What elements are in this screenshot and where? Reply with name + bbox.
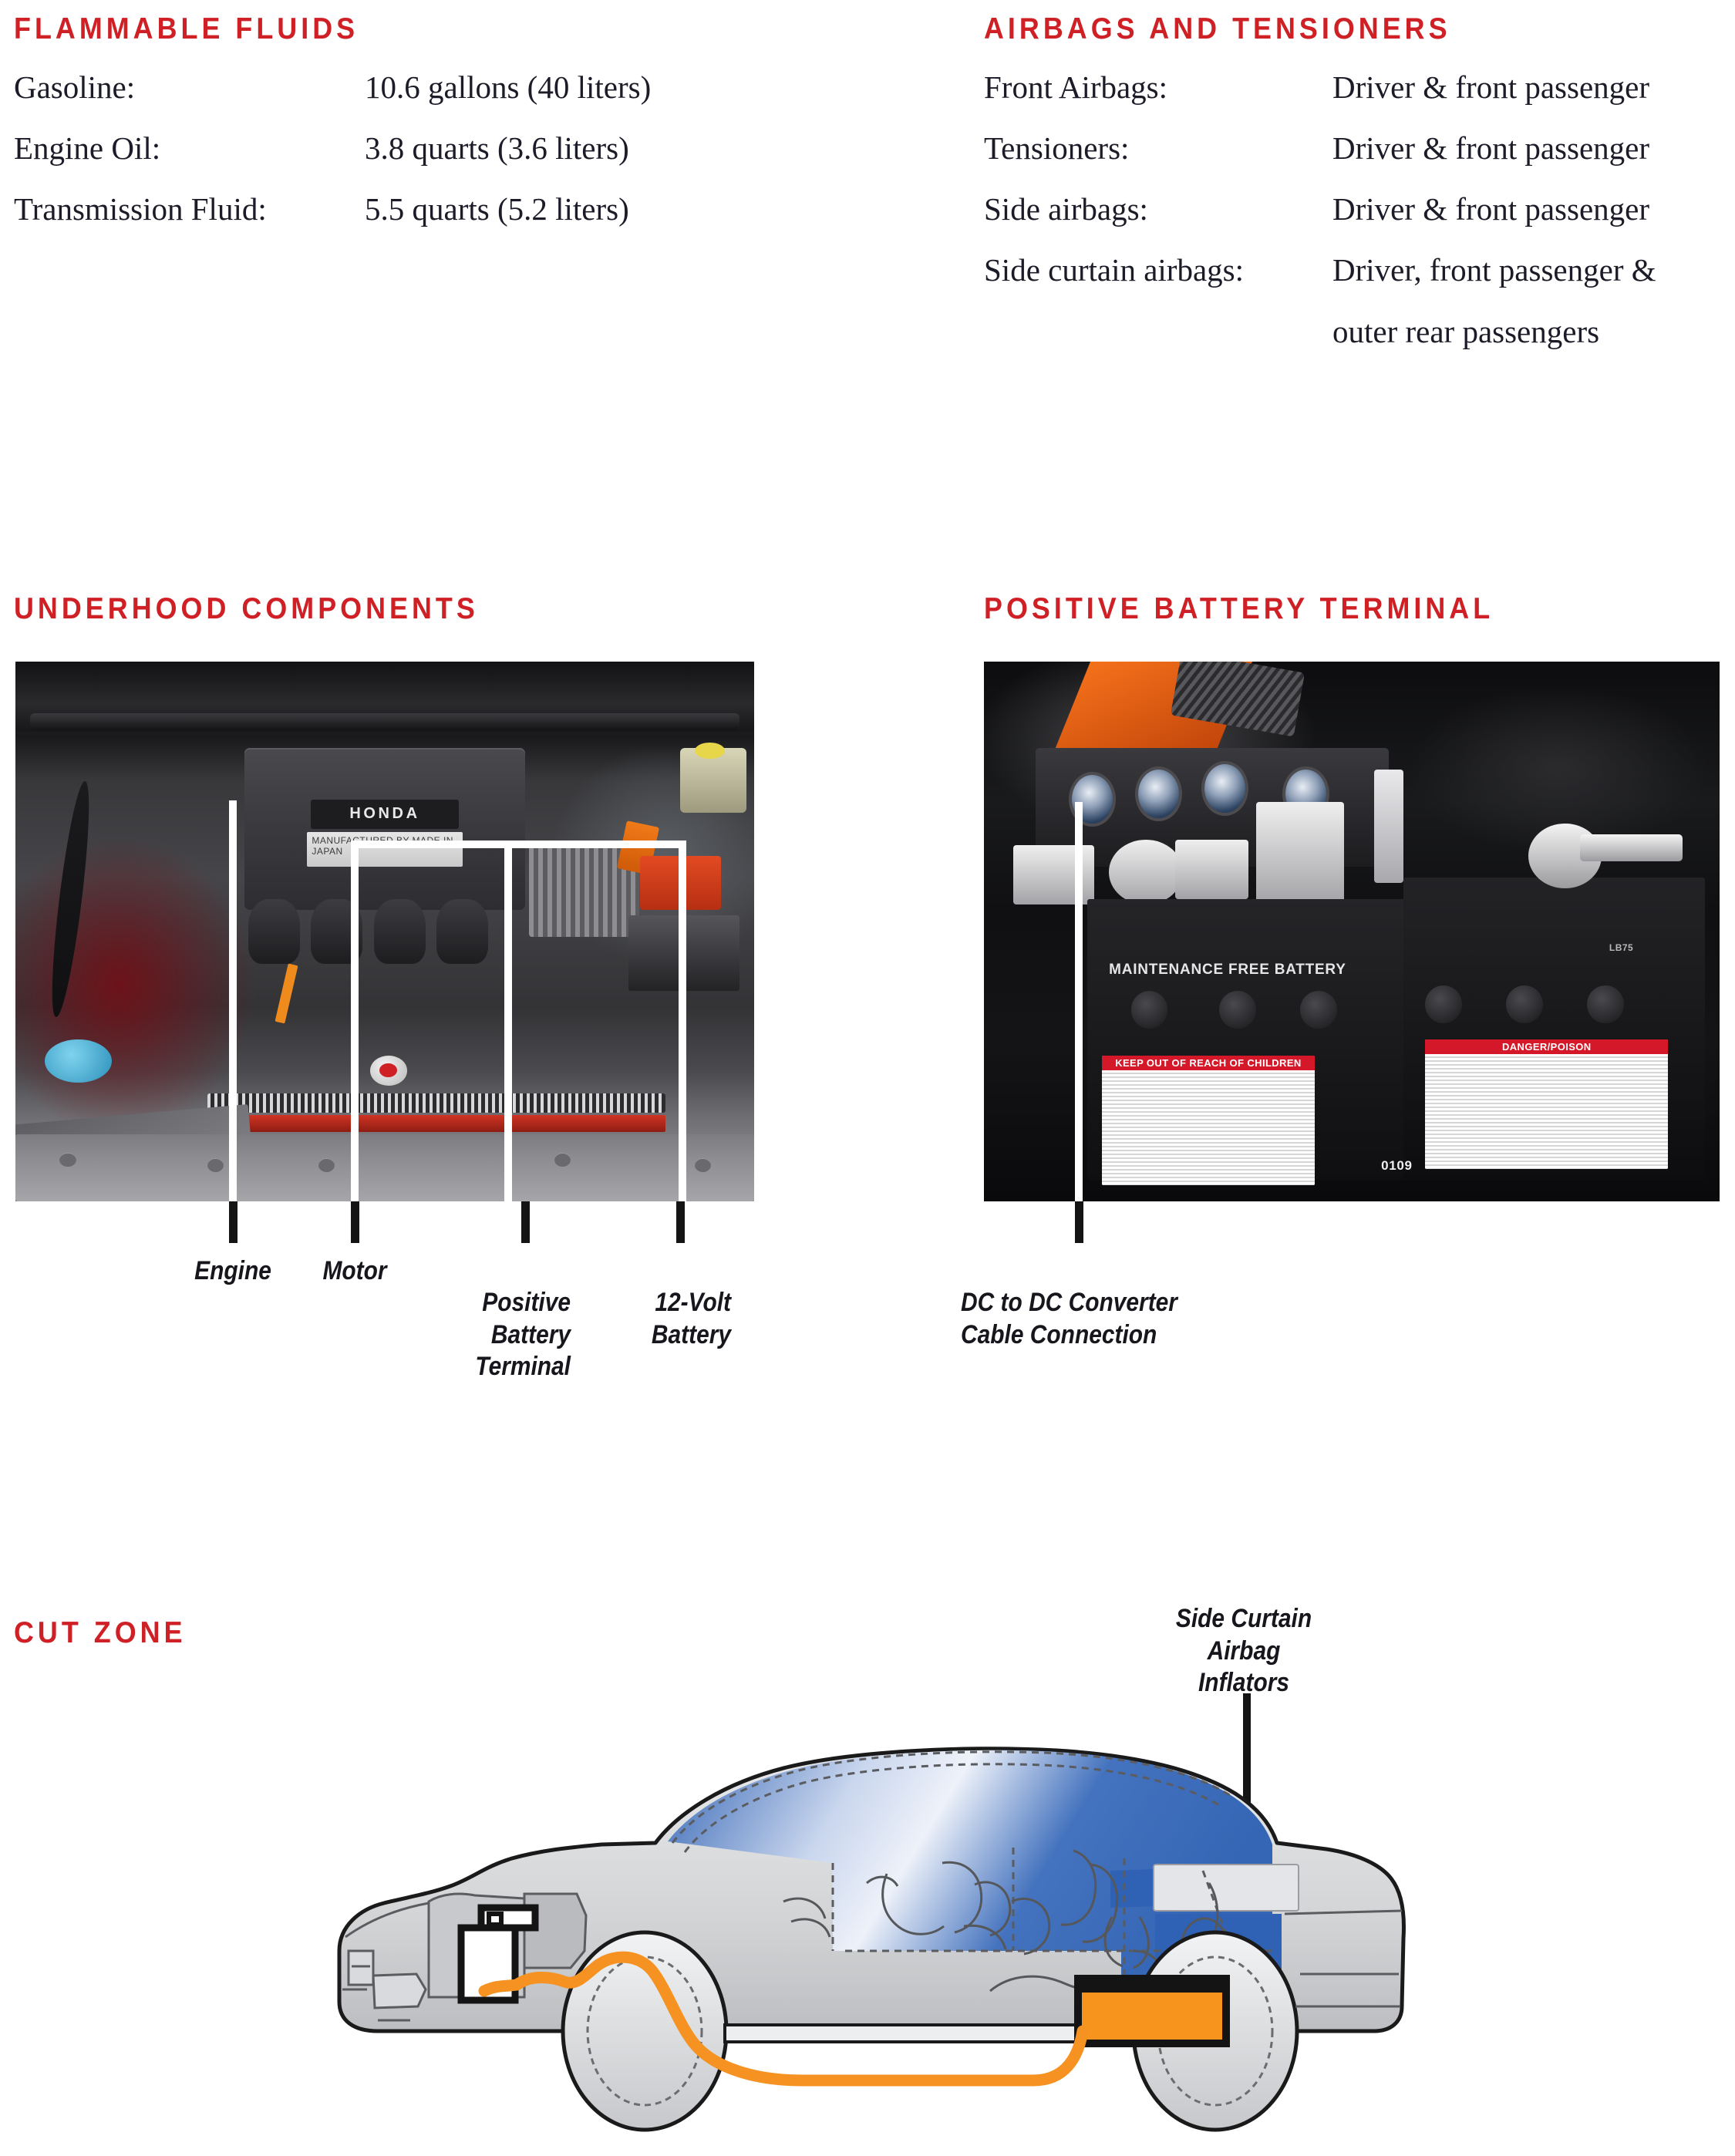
underhood-components-section: UNDERHOOD COMPONENTS [14,594,519,624]
leader-line-positive-terminal [504,841,512,1201]
flammable-fluids-section: FLAMMABLE FLUIDS Gasoline: 10.6 gallons … [14,14,651,253]
honda-badge: HONDA [311,800,459,830]
spec-value: Driver, front passenger & outer rear pas… [1332,253,1656,350]
battery-warning-label-right: DANGER/POISON [1425,1039,1668,1169]
spec-label: Gasoline: [14,70,365,106]
tick-dc-converter [1075,1201,1083,1243]
battery-warning-label-right-header: DANGER/POISON [1425,1039,1668,1054]
battery-warning-label-left: KEEP OUT OF REACH OF CHILDREN [1102,1056,1316,1185]
tick-engine [229,1201,238,1243]
spec-value: 10.6 gallons (40 liters) [365,70,651,106]
callout-engine: Engine [185,1255,280,1287]
tick-motor [351,1201,359,1243]
car-rocker-panel [725,2025,1135,2042]
spec-value: Driver & front passenger [1332,70,1649,106]
battery-maintenance-text: MAINTENANCE FREE BATTERY [1109,962,1346,979]
spec-value: 5.5 quarts (5.2 liters) [365,192,629,227]
spec-label: Transmission Fluid: [14,192,365,227]
side-curtain-airbag-inflator-zone [1154,1865,1299,1911]
airbags-tensioners-heading: AIRBAGS AND TENSIONERS [984,14,1602,44]
battery-code-text: 0109 [1381,1158,1413,1174]
leader-line-12v-battery [679,841,686,1201]
engine-info-plate: MANUFACTURED BY MADE IN JAPAN [307,832,462,867]
spec-value: 3.8 quarts (3.6 liters) [365,131,629,167]
spec-label: Tensioners: [984,131,1332,167]
hv-battery-pack [1078,1979,1226,2043]
spec-label: Side airbags: [984,192,1332,227]
spec-value-line1: Driver, front passenger & [1332,253,1656,288]
table-row: Engine Oil: 3.8 quarts (3.6 liters) [14,131,651,192]
table-row: Side curtain airbags: Driver, front pass… [984,253,1656,314]
positive-battery-terminal-section: POSITIVE BATTERY TERMINAL [984,594,1538,624]
positive-battery-terminal-photo: MAINTENANCE FREE BATTERY LB75 KEEP OUT O… [984,662,1720,1201]
tick-positive-terminal [521,1201,530,1243]
leader-line-dc-converter [1075,802,1083,1201]
battery-lb75-text: LB75 [1609,942,1633,953]
table-row: Side airbags: Driver & front passenger [984,192,1656,253]
spec-label: Engine Oil: [14,131,365,167]
positive-battery-terminal-heading: POSITIVE BATTERY TERMINAL [984,594,1494,624]
spec-value: Driver & front passenger [1332,192,1649,227]
spec-value: Driver & front passenger [1332,131,1649,167]
spec-value-line2: outer rear passengers [1332,315,1656,350]
spec-label: Front Airbags: [984,70,1332,106]
flammable-fluids-table: Gasoline: 10.6 gallons (40 liters) Engin… [14,70,651,253]
callout-dc-to-dc-converter: DC to DC Converter Cable Connection [961,1255,1273,1351]
airbags-tensioners-table: Front Airbags: Driver & front passenger … [984,70,1656,314]
cut-zone-heading: CUT ZONE [14,1618,187,1648]
flammable-fluids-heading: FLAMMABLE FLUIDS [14,14,600,44]
leader-line-motor [351,841,359,1201]
cut-zone-car-diagram [293,1720,1450,2151]
leader-line-engine [229,800,237,1201]
tick-12v-battery [676,1201,685,1243]
underhood-engine-photo: HONDA MANUFACTURED BY MADE IN JAPAN [15,662,754,1201]
leader-line-positive-terminal-horizontal [504,841,686,848]
leader-line-motor-horizontal [351,841,509,848]
cut-zone-section: CUT ZONE [14,1618,201,1648]
spec-label: Side curtain airbags: [984,253,1332,288]
battery-warning-label-left-header: KEEP OUT OF REACH OF CHILDREN [1102,1056,1316,1070]
table-row: Transmission Fluid: 5.5 quarts (5.2 lite… [14,192,651,253]
table-row: Gasoline: 10.6 gallons (40 liters) [14,70,651,131]
airbags-tensioners-section: AIRBAGS AND TENSIONERS Front Airbags: Dr… [984,14,1656,314]
callout-positive-battery-terminal: Positive Battery Terminal [374,1255,571,1383]
table-row: Tensioners: Driver & front passenger [984,131,1656,192]
callout-side-curtain-airbag-inflators: Side Curtain Airbag Inflators [1145,1572,1342,1700]
callout-12-volt-battery: 12-Volt Battery [563,1255,731,1351]
underhood-components-heading: UNDERHOOD COMPONENTS [14,594,479,624]
table-row: Front Airbags: Driver & front passenger [984,70,1656,131]
hv-cable-orange-front-stub [484,1985,517,1991]
